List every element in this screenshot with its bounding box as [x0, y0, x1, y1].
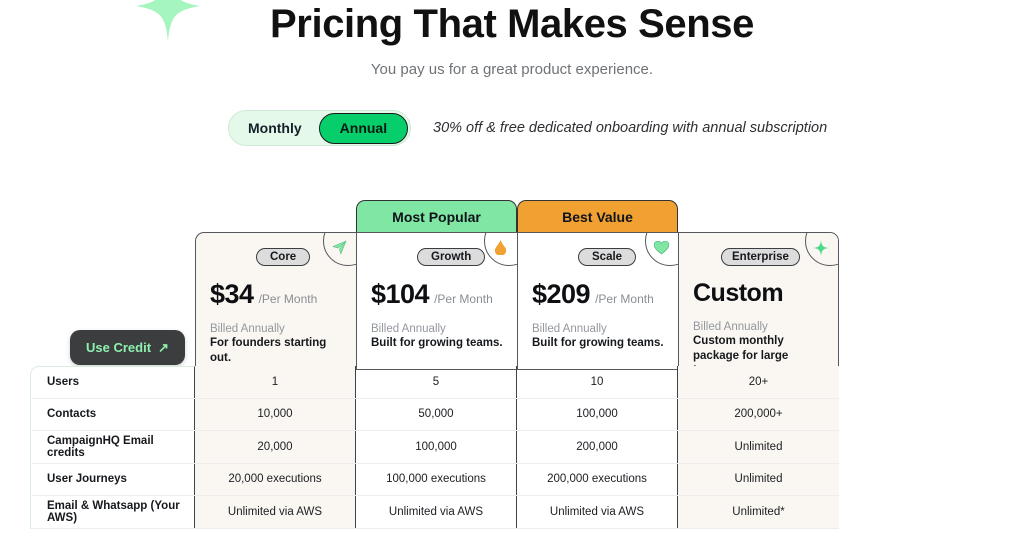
plan-card-growth[interactable]: Growth $104 /Per Month Billed Annually B… [356, 232, 517, 370]
feature-value-enterprise: Unlimited [678, 464, 839, 496]
feature-value-scale: Unlimited via AWS [517, 496, 678, 528]
toggle-option-monthly[interactable]: Monthly [231, 112, 319, 144]
feature-label: Users [30, 366, 195, 398]
feature-value-enterprise: Unlimited* [678, 496, 839, 528]
feature-value-scale: 10 [517, 366, 678, 398]
plan-price-row-growth: $104 /Per Month [371, 279, 503, 310]
ribbon-most-popular: Most Popular [356, 200, 517, 232]
plan-price-row-scale: $209 /Per Month [532, 279, 664, 310]
feature-value-core: 20,000 [195, 431, 356, 463]
plan-tagline-core: For founders starting out. [210, 336, 342, 365]
plan-billed-scale: Billed Annually [532, 323, 664, 335]
plan-corner-badge-core [323, 232, 356, 266]
feature-value-core: 1 [195, 366, 356, 398]
feature-comparison-table: Users 1 5 10 20+ Contacts 10,000 50,000 … [30, 366, 839, 529]
use-credit-button[interactable]: Use Credit ↗ [70, 330, 185, 365]
plan-billed-enterprise: Billed Annually [693, 321, 824, 333]
plan-card-core[interactable]: Core $34 /Per Month Billed Annually For … [195, 232, 356, 370]
table-row: User Journeys 20,000 executions 100,000 … [30, 464, 839, 497]
feature-value-enterprise: 20+ [678, 366, 839, 398]
use-credit-label: Use Credit [86, 340, 151, 355]
plan-card-enterprise[interactable]: Enterprise Custom Billed Annually Custom… [678, 232, 839, 370]
plan-card-scale[interactable]: Scale $209 /Per Month Billed Annually Bu… [517, 232, 678, 370]
annual-promo-note: 30% off & free dedicated onboarding with… [433, 120, 827, 136]
feature-value-core: 10,000 [195, 399, 356, 431]
diamond-icon [494, 240, 507, 260]
plan-price-core: $34 [210, 279, 254, 310]
plan-billed-core: Billed Annually [210, 323, 342, 335]
feature-value-growth: 5 [356, 366, 517, 398]
page-title: Pricing That Makes Sense [0, 2, 1024, 47]
plan-tier-enterprise: Enterprise [721, 248, 800, 266]
feature-value-core: 20,000 executions [195, 464, 356, 496]
feature-label: User Journeys [30, 464, 195, 496]
plan-period-core: /Per Month [259, 292, 318, 306]
plan-period-scale: /Per Month [595, 292, 654, 306]
sparkle-icon [813, 240, 829, 261]
plan-corner-badge-growth [484, 232, 517, 266]
feature-value-growth: Unlimited via AWS [356, 496, 517, 528]
plan-corner-badge-scale [645, 232, 678, 266]
plan-tier-scale: Scale [578, 248, 636, 266]
table-row: CampaignHQ Email credits 20,000 100,000 … [30, 431, 839, 464]
plan-tagline-enterprise: Custom monthly package for large teams. [693, 334, 824, 370]
feature-value-growth: 100,000 executions [356, 464, 517, 496]
pricing-page: Pricing That Makes Sense You pay us for … [0, 0, 1024, 536]
feature-label: CampaignHQ Email credits [30, 431, 195, 463]
plan-corner-badge-enterprise [805, 232, 839, 266]
plan-tagline-scale: Built for growing teams. [532, 336, 664, 351]
feature-value-growth: 100,000 [356, 431, 517, 463]
plan-price-row-enterprise: Custom [693, 279, 824, 308]
table-row: Email & Whatsapp (Your AWS) Unlimited vi… [30, 496, 839, 529]
table-row: Users 1 5 10 20+ [30, 366, 839, 399]
page-subtitle: You pay us for a great product experienc… [0, 61, 1024, 78]
plan-price-growth: $104 [371, 279, 429, 310]
feature-value-enterprise: Unlimited [678, 431, 839, 463]
toggle-option-annual[interactable]: Annual [319, 113, 408, 144]
plan-price-row-core: $34 /Per Month [210, 279, 342, 310]
plan-tier-core: Core [256, 248, 310, 266]
feature-value-core: Unlimited via AWS [195, 496, 356, 528]
plan-period-growth: /Per Month [434, 292, 493, 306]
feature-value-scale: 100,000 [517, 399, 678, 431]
plan-billed-growth: Billed Annually [371, 323, 503, 335]
ribbon-best-value: Best Value [517, 200, 678, 232]
heart-icon [654, 241, 669, 260]
feature-value-scale: 200,000 executions [517, 464, 678, 496]
billing-period-toggle[interactable]: Monthly Annual [228, 110, 411, 146]
paper-plane-icon [332, 240, 347, 260]
plan-price-enterprise: Custom [693, 279, 783, 308]
plan-price-scale: $209 [532, 279, 590, 310]
feature-value-enterprise: 200,000+ [678, 399, 839, 431]
feature-value-growth: 50,000 [356, 399, 517, 431]
arrow-up-right-icon: ↗ [158, 340, 169, 356]
feature-label: Contacts [30, 399, 195, 431]
plan-tagline-growth: Built for growing teams. [371, 336, 503, 351]
plan-tier-growth: Growth [417, 248, 485, 266]
feature-value-scale: 200,000 [517, 431, 678, 463]
feature-label: Email & Whatsapp (Your AWS) [30, 496, 195, 528]
table-row: Contacts 10,000 50,000 100,000 200,000+ [30, 399, 839, 432]
